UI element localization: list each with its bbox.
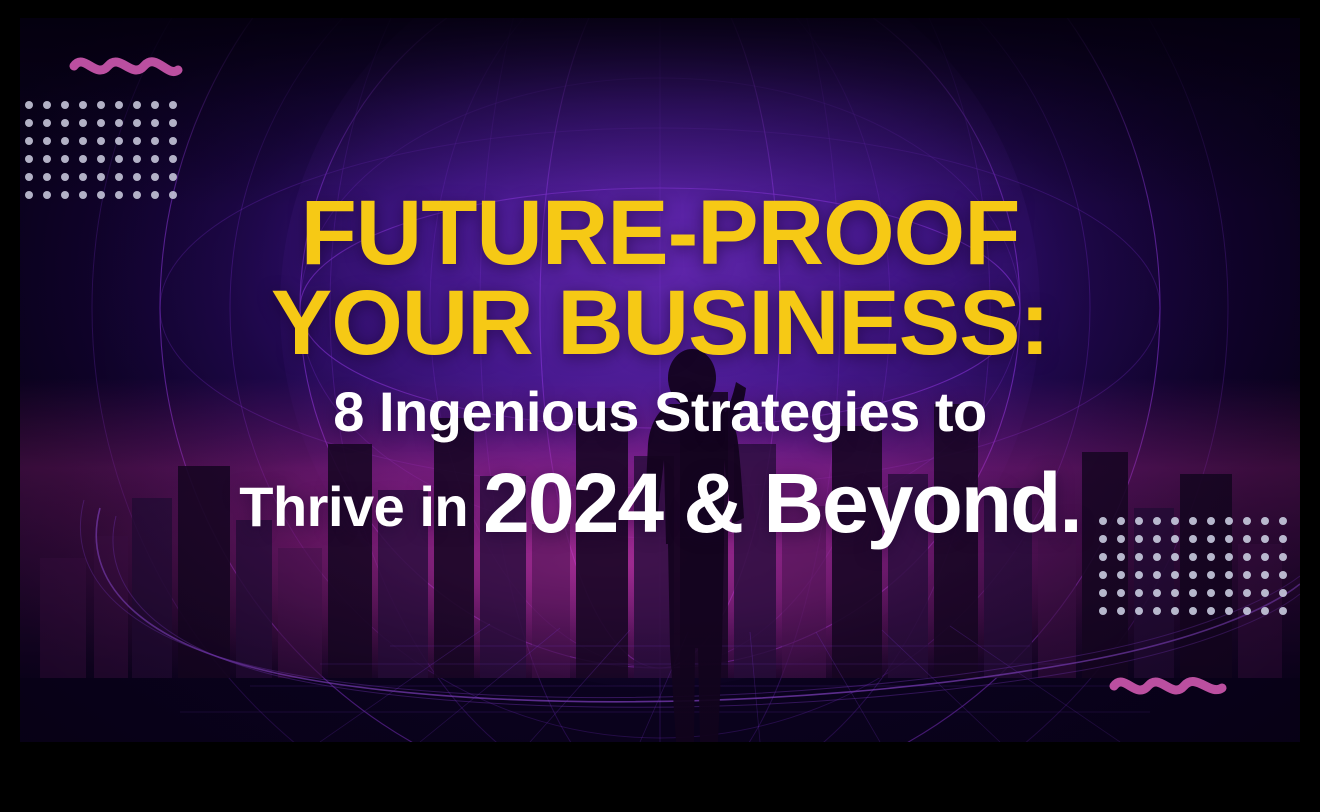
dot	[1171, 571, 1179, 579]
dot	[169, 101, 177, 109]
dot	[97, 137, 105, 145]
dot	[25, 173, 33, 181]
dot	[115, 173, 123, 181]
dot	[1243, 607, 1251, 615]
dot	[97, 155, 105, 163]
dot	[115, 137, 123, 145]
dot	[1189, 607, 1197, 615]
subheadline-line-2: Thrive in 2024 & Beyond.	[20, 459, 1300, 548]
dot	[43, 119, 51, 127]
dot-row	[20, 168, 182, 186]
dot	[1099, 553, 1107, 561]
dot	[1117, 571, 1125, 579]
dot	[43, 155, 51, 163]
dot	[61, 137, 69, 145]
dot	[1099, 589, 1107, 597]
dot	[151, 155, 159, 163]
dot	[1171, 553, 1179, 561]
dot	[169, 155, 177, 163]
headline-line-2: YOUR BUSINESS:	[20, 278, 1300, 368]
dot	[1207, 553, 1215, 561]
headline-block: FUTURE-PROOF YOUR BUSINESS:	[20, 188, 1300, 368]
dot	[1153, 571, 1161, 579]
dot	[97, 173, 105, 181]
dot-row	[1094, 602, 1292, 620]
dot	[1189, 553, 1197, 561]
dot-row	[1094, 584, 1292, 602]
dot	[79, 101, 87, 109]
dot	[133, 137, 141, 145]
dot	[1243, 553, 1251, 561]
dot	[97, 101, 105, 109]
dot	[1099, 571, 1107, 579]
dot	[1225, 571, 1233, 579]
dot	[1279, 571, 1287, 579]
dot	[115, 101, 123, 109]
dot	[1207, 589, 1215, 597]
dot	[1171, 589, 1179, 597]
dot	[1243, 589, 1251, 597]
wave-squiggle-icon	[1106, 664, 1230, 704]
dot	[1261, 571, 1269, 579]
dot	[1279, 553, 1287, 561]
dot	[1153, 553, 1161, 561]
wave-squiggle-icon	[66, 48, 186, 88]
dot	[79, 155, 87, 163]
dot	[97, 119, 105, 127]
dot	[133, 101, 141, 109]
dot	[1207, 607, 1215, 615]
dot	[133, 155, 141, 163]
dot	[1279, 607, 1287, 615]
dot	[1261, 589, 1269, 597]
banner-frame: FUTURE-PROOF YOUR BUSINESS: 8 Ingenious …	[0, 0, 1320, 812]
subheadline-block: 8 Ingenious Strategies to Thrive in 2024…	[20, 382, 1300, 548]
dot	[25, 137, 33, 145]
dot	[1153, 607, 1161, 615]
dot	[79, 173, 87, 181]
dot	[151, 119, 159, 127]
subheadline-line-1: 8 Ingenious Strategies to	[20, 382, 1300, 441]
dot	[25, 101, 33, 109]
dot	[169, 119, 177, 127]
dot	[151, 101, 159, 109]
dot	[1135, 571, 1143, 579]
dot	[25, 119, 33, 127]
dot	[61, 155, 69, 163]
dot	[1099, 607, 1107, 615]
subheadline-year: 2024	[483, 456, 662, 550]
dot	[1117, 607, 1125, 615]
dot-row	[20, 150, 182, 168]
dot	[133, 119, 141, 127]
dot	[1225, 589, 1233, 597]
dot	[43, 173, 51, 181]
dot	[79, 137, 87, 145]
dot	[151, 173, 159, 181]
dot	[1171, 607, 1179, 615]
dot	[133, 173, 141, 181]
dot	[1207, 571, 1215, 579]
dot	[1189, 589, 1197, 597]
dot	[1225, 553, 1233, 561]
dot-row	[20, 132, 182, 150]
dot	[1243, 571, 1251, 579]
subheadline-tail-text: Beyond.	[763, 456, 1080, 550]
dot	[79, 119, 87, 127]
dot	[61, 173, 69, 181]
dot-row	[1094, 548, 1292, 566]
dot	[169, 137, 177, 145]
dot-row	[1094, 566, 1292, 584]
banner-artwork-canvas: FUTURE-PROOF YOUR BUSINESS: 8 Ingenious …	[20, 18, 1300, 742]
dot	[25, 155, 33, 163]
dot	[1261, 553, 1269, 561]
dot-row	[20, 96, 182, 114]
subheadline-ampersand: &	[662, 456, 763, 550]
dot	[1279, 589, 1287, 597]
dot	[169, 173, 177, 181]
dot	[61, 119, 69, 127]
subheadline-lead-text: Thrive in	[239, 475, 483, 538]
dot	[1135, 553, 1143, 561]
headline-line-1: FUTURE-PROOF	[20, 188, 1300, 278]
dot	[151, 137, 159, 145]
dot	[1117, 589, 1125, 597]
dot	[43, 101, 51, 109]
dot	[1225, 607, 1233, 615]
dot	[115, 119, 123, 127]
dot	[1153, 589, 1161, 597]
dot	[1261, 607, 1269, 615]
dot	[43, 137, 51, 145]
dot	[1135, 607, 1143, 615]
dot-row	[20, 114, 182, 132]
dot	[115, 155, 123, 163]
dot	[1117, 553, 1125, 561]
dot	[1189, 571, 1197, 579]
dot	[1135, 589, 1143, 597]
dot	[61, 101, 69, 109]
